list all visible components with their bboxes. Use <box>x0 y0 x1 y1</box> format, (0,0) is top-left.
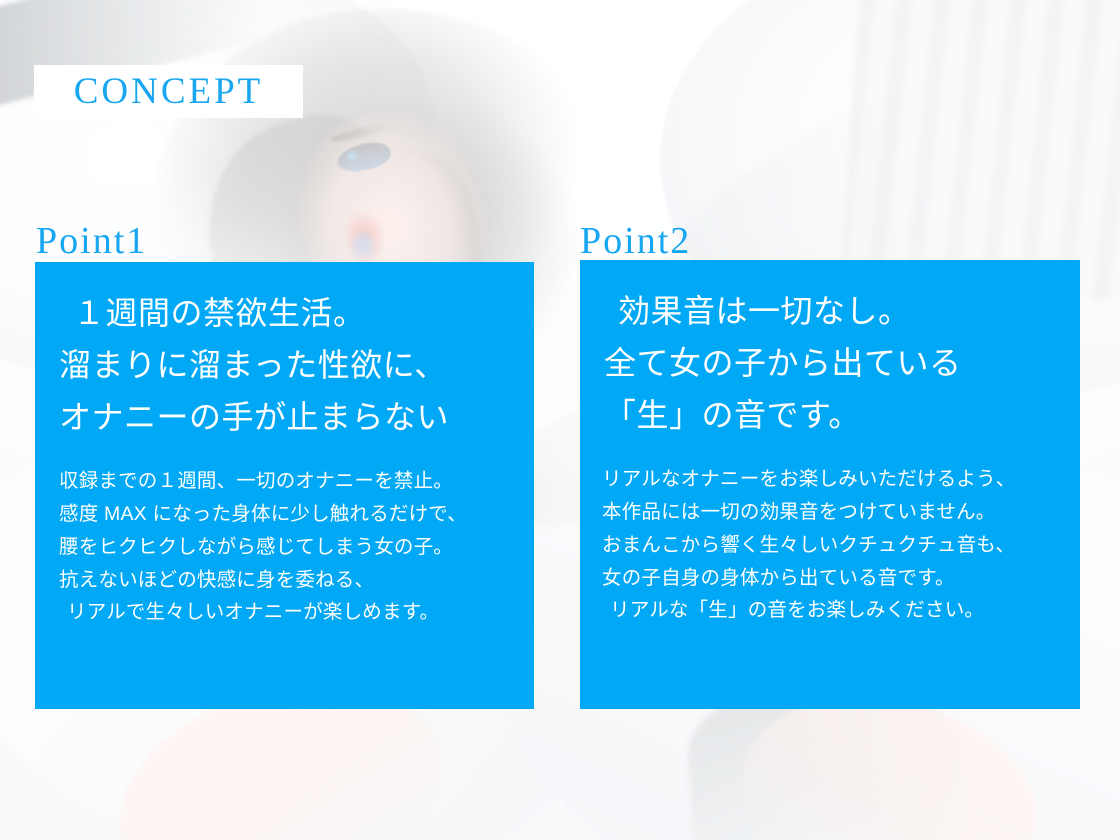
point2-headline-line-3: 「生」の音です。 <box>604 390 1056 442</box>
point1-body-line-1: 収録までの１週間、一切のオナニーを禁止。 <box>59 465 514 498</box>
point1-panel: １週間の禁欲生活。 溜まりに溜まった性欲に、 オナニーの手が止まらない 収録まで… <box>35 262 534 709</box>
point2-body: リアルなオナニーをお楽しみいただけるよう、 本作品には一切の効果音をつけていませ… <box>580 463 1080 627</box>
point2-body-line-1: リアルなオナニーをお楽しみいただけるよう、 <box>602 463 1060 496</box>
point1-body-line-4: 抗えないほどの快感に身を委ねる、 <box>59 564 514 597</box>
promo-slide: CONCEPT Point1 １週間の禁欲生活。 溜まりに溜まった性欲に、 オナ… <box>0 0 1120 840</box>
concept-badge: CONCEPT <box>34 65 303 118</box>
point2-label: Point2 <box>580 222 691 260</box>
point2-headline: 効果音は一切なし。 全て女の子から出ている 「生」の音です。 <box>580 286 1080 441</box>
point2-panel: 効果音は一切なし。 全て女の子から出ている 「生」の音です。 リアルなオナニーを… <box>580 260 1080 709</box>
point2-body-line-2: 本作品には一切の効果音をつけていません。 <box>602 496 1060 529</box>
point1-headline-line-2: 溜まりに溜まった性欲に、 <box>59 340 510 392</box>
point1-body-line-3: 腰をヒクヒクしながら感じてしまう女の子。 <box>59 531 514 564</box>
point1-headline-line-1: １週間の禁欲生活。 <box>59 288 510 340</box>
point1-body-line-5: リアルで生々しいオナニーが楽しめます。 <box>59 596 514 629</box>
point1-body-line-2: 感度 MAX になった身体に少し触れるだけで、 <box>59 498 514 531</box>
point2-body-line-4: 女の子自身の身体から出ている音です。 <box>602 562 1060 595</box>
point2-body-line-5: リアルな「生」の音をお楽しみください。 <box>602 594 1060 627</box>
point1-headline-line-3: オナニーの手が止まらない <box>59 392 510 444</box>
point2-headline-line-1: 効果音は一切なし。 <box>604 286 1056 338</box>
point1-body: 収録までの１週間、一切のオナニーを禁止。 感度 MAX になった身体に少し触れる… <box>35 465 534 629</box>
point1-headline: １週間の禁欲生活。 溜まりに溜まった性欲に、 オナニーの手が止まらない <box>35 288 534 443</box>
point2-headline-line-2: 全て女の子から出ている <box>604 338 1056 390</box>
foreground-content: CONCEPT Point1 １週間の禁欲生活。 溜まりに溜まった性欲に、 オナ… <box>0 0 1120 840</box>
point2-body-line-3: おまんこから響く生々しいクチュクチュ音も、 <box>602 529 1060 562</box>
concept-badge-label: CONCEPT <box>74 73 264 110</box>
point1-label: Point1 <box>36 222 147 260</box>
